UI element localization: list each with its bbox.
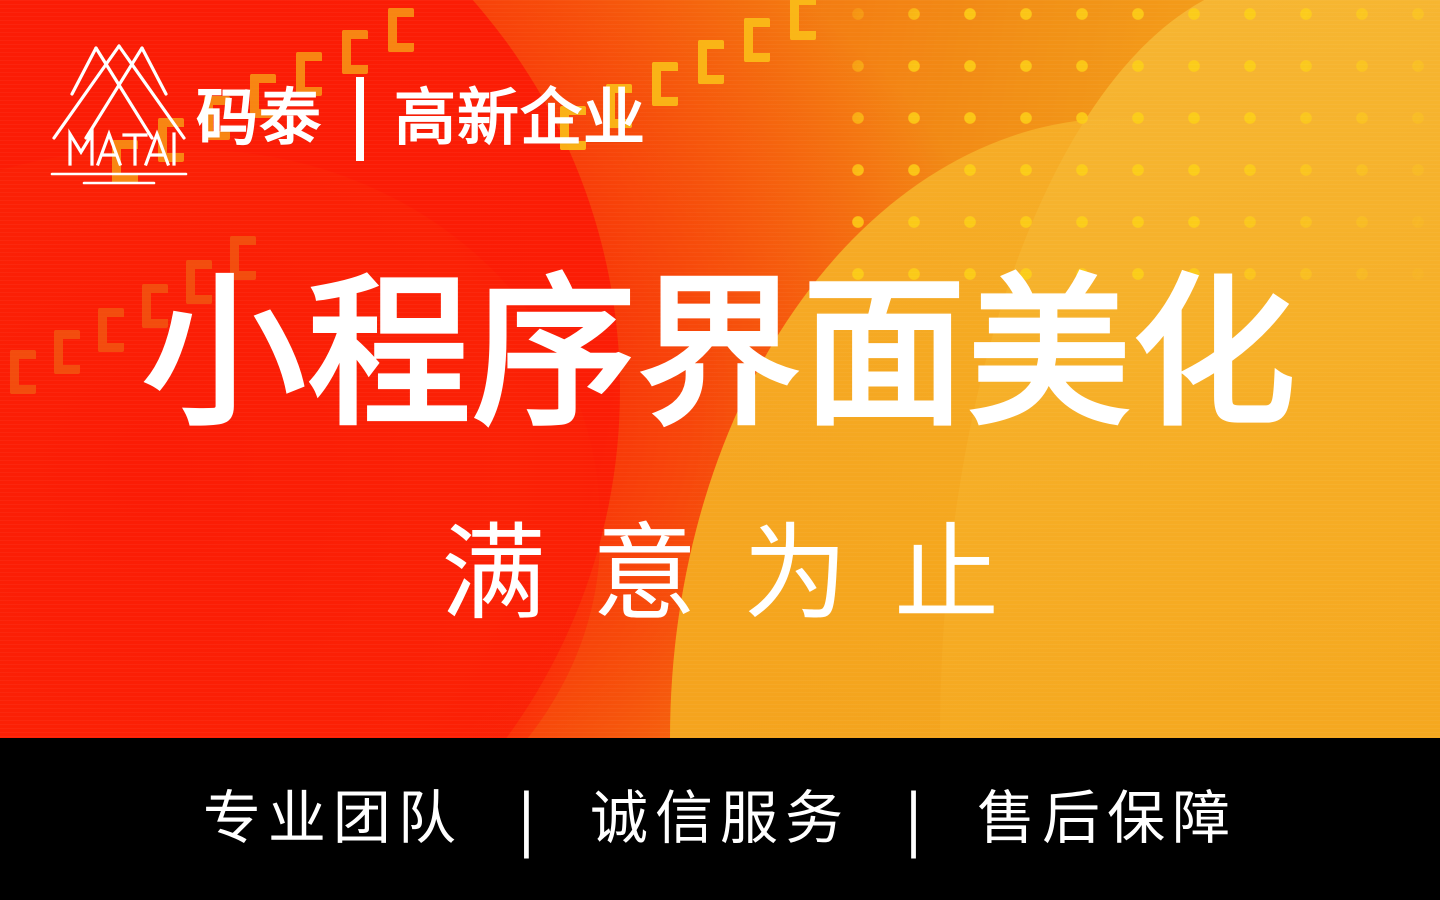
footer-item-professional-team: 专业团队 <box>203 790 463 848</box>
brand-tagline: 高新企业 <box>394 88 646 150</box>
page-title: 小程序界面美化 <box>142 272 1297 435</box>
promo-banner: 码泰 高新企业 小程序界面美化 满意为止 专业团队 | 诚信服务 | 售后保障 <box>0 0 1440 900</box>
footer-item-after-sales-guarantee: 售后保障 <box>977 790 1237 848</box>
footer-bar: 专业团队 | 诚信服务 | 售后保障 <box>0 738 1440 900</box>
brand-name: 码泰 <box>196 88 322 150</box>
footer-separator: | <box>519 783 534 856</box>
footer-items: 专业团队 | 诚信服务 | 售后保障 <box>203 790 1237 848</box>
page-subtitle: 满意为止 <box>395 512 1045 638</box>
brand-divider <box>356 77 364 161</box>
brand-row: 码泰 高新企业 <box>196 73 646 165</box>
mountain-peaks-logo-icon <box>48 34 190 186</box>
footer-item-honest-service: 诚信服务 <box>590 790 850 848</box>
footer-separator: | <box>906 783 921 856</box>
